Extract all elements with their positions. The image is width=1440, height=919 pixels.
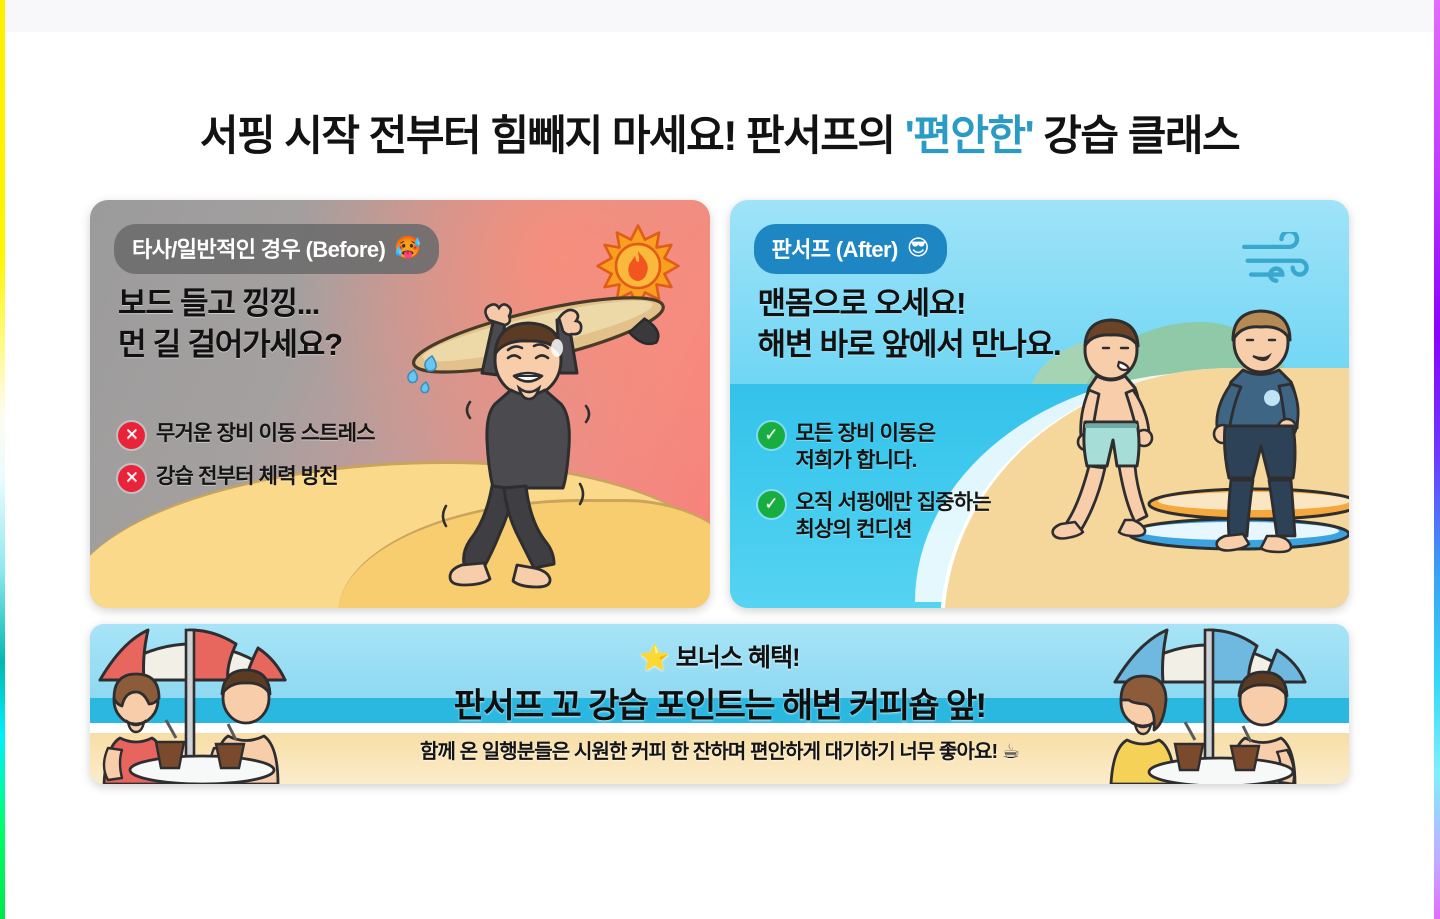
bullet-text: 무거운 장비 이동 스트레스	[156, 420, 375, 447]
top-band	[0, 0, 1440, 32]
card-before-heading-line1: 보드 들고 낑낑...	[118, 284, 342, 325]
illustration-man-carrying-board	[374, 278, 704, 608]
right-gradient-edge	[1434, 0, 1440, 919]
bullet-item: ✕ 무거운 장비 이동 스트레스	[118, 420, 375, 449]
badge-after: 판서프 (After) 😎	[754, 224, 948, 274]
badge-before: 타사/일반적인 경우 (Before) 🥵	[114, 224, 439, 274]
page-title-part2: 강습 클래스	[1033, 112, 1239, 159]
bullet-text: 오직 서핑에만 집중하는 최상의 컨디션	[796, 489, 991, 544]
badge-after-label: 판서프 (After)	[772, 232, 898, 264]
illustration-instructor-and-surfer	[1049, 308, 1349, 608]
coffee-icon: ☕	[1002, 741, 1019, 763]
bonus-sub-label: 함께 온 일행분들은 시원한 커피 한 잔하며 편안하게 대기하기 너무 좋아요…	[420, 741, 997, 763]
card-after-bullets: ✓ 모든 장비 이동은 저희가 합니다. ✓ 오직 서핑에만 집중하는 최상의 …	[758, 420, 991, 557]
bullet-text: 모든 장비 이동은 저희가 합니다.	[796, 420, 936, 475]
card-before-heading: 보드 들고 낑낑... 먼 길 걸어가세요?	[118, 284, 342, 366]
check-icon: ✓	[758, 422, 785, 449]
bonus-line: ⭐ 보너스 혜택!	[90, 638, 1349, 674]
bullet-text: 강습 전부터 체력 방전	[156, 463, 338, 490]
wind-icon	[1239, 232, 1317, 286]
card-after-heading-line2: 해변 바로 앞에서 만나요.	[758, 325, 1061, 366]
slide-canvas: 서핑 시작 전부터 힘빼지 마세요! 판서프의 '편안한' 강습 클래스	[6, 32, 1433, 919]
page-title-accent: '편안한'	[905, 112, 1033, 159]
card-before-heading-line2: 먼 길 걸어가세요?	[118, 325, 342, 366]
page-title-part1: 서핑 시작 전부터 힘빼지 마세요! 판서프의	[200, 112, 905, 159]
left-gradient-edge	[0, 0, 5, 919]
badge-before-label: 타사/일반적인 경우 (Before)	[132, 232, 385, 264]
card-before-bullets: ✕ 무거운 장비 이동 스트레스 ✕ 강습 전부터 체력 방전	[118, 420, 375, 506]
page-frame: 서핑 시작 전부터 힘빼지 마세요! 판서프의 '편안한' 강습 클래스	[0, 0, 1440, 919]
bullet-item: ✕ 강습 전부터 체력 방전	[118, 463, 375, 492]
star-icon: ⭐	[639, 644, 669, 672]
bonus-banner: ⭐ 보너스 혜택! 판서프 꼬 강습 포인트는 해변 커피숍 앞! 함께 온 일…	[90, 624, 1349, 784]
banner-text-block: ⭐ 보너스 혜택! 판서프 꼬 강습 포인트는 해변 커피숍 앞! 함께 온 일…	[90, 638, 1349, 764]
bonus-sub-text: 함께 온 일행분들은 시원한 커피 한 잔하며 편안하게 대기하기 너무 좋아요…	[90, 735, 1349, 764]
card-after-heading-line1: 맨몸으로 오세요!	[758, 284, 1061, 325]
bullet-item: ✓ 모든 장비 이동은 저희가 합니다.	[758, 420, 991, 475]
bullet-item: ✓ 오직 서핑에만 집중하는 최상의 컨디션	[758, 489, 991, 544]
comparison-cards: 타사/일반적인 경우 (Before) 🥵 보드 들고 낑낑... 먼 길 걸어…	[90, 200, 1349, 608]
sunglasses-face-emoji: 😎	[907, 235, 929, 261]
hot-face-emoji: 🥵	[394, 235, 421, 261]
page-title: 서핑 시작 전부터 힘빼지 마세요! 판서프의 '편안한' 강습 클래스	[6, 112, 1433, 160]
cross-icon: ✕	[118, 465, 145, 492]
bonus-label: 보너스 혜택!	[676, 644, 800, 672]
bonus-main-text: 판서프 꼬 강습 포인트는 해변 커피숍 앞!	[90, 678, 1349, 727]
card-after: 판서프 (After) 😎 맨몸으로 오세요! 해변 바로 앞에서 만나요. ✓…	[730, 200, 1350, 608]
card-after-heading: 맨몸으로 오세요! 해변 바로 앞에서 만나요.	[758, 284, 1061, 366]
cross-icon: ✕	[118, 422, 145, 449]
card-before: 타사/일반적인 경우 (Before) 🥵 보드 들고 낑낑... 먼 길 걸어…	[90, 200, 710, 608]
check-icon: ✓	[758, 491, 785, 518]
